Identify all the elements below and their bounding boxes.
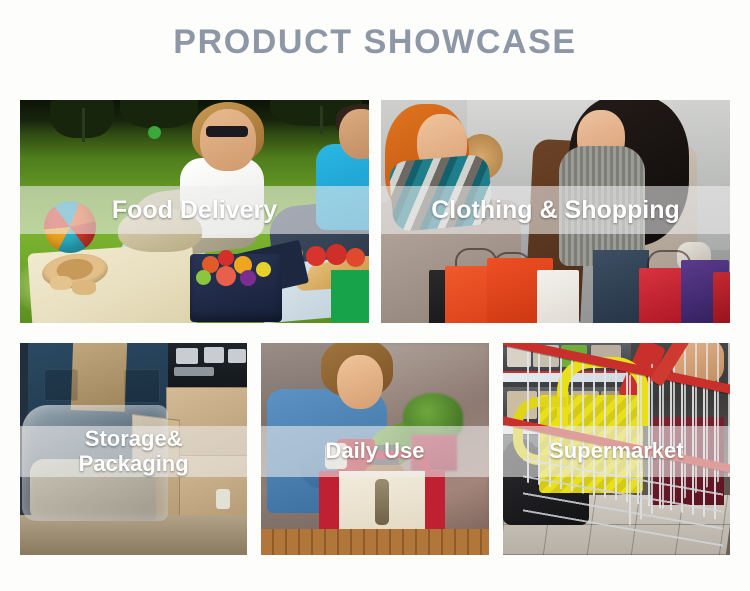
caption-line: Storage& bbox=[79, 427, 189, 452]
showcase-card-supermarket[interactable]: Supermarket bbox=[503, 343, 730, 555]
caption-line: Packaging bbox=[79, 452, 189, 477]
showcase-card-food-delivery[interactable]: Food Delivery bbox=[20, 100, 369, 323]
caption-line: Clothing & Shopping bbox=[431, 196, 680, 224]
product-showcase-page: PRODUCT SHOWCASE bbox=[0, 0, 750, 591]
card-caption-daily-use: Daily Use bbox=[261, 426, 488, 477]
page-title: PRODUCT SHOWCASE bbox=[0, 22, 750, 62]
showcase-grid-bottom-row: Storage& Packaging bbox=[20, 343, 730, 555]
card-caption-supermarket: Supermarket bbox=[503, 426, 730, 477]
showcase-grid-top-row: Food Delivery bbox=[20, 100, 730, 323]
showcase-card-storage-packaging[interactable]: Storage& Packaging bbox=[20, 343, 247, 555]
caption-line: Supermarket bbox=[549, 439, 684, 464]
caption-line: Food Delivery bbox=[112, 196, 277, 224]
card-caption-food-delivery: Food Delivery bbox=[20, 186, 369, 234]
showcase-card-clothing-shopping[interactable]: Clothing & Shopping bbox=[381, 100, 730, 323]
card-caption-storage-packaging: Storage& Packaging bbox=[20, 426, 247, 477]
caption-line: Daily Use bbox=[325, 439, 424, 464]
showcase-card-daily-use[interactable]: Daily Use bbox=[261, 343, 488, 555]
card-caption-clothing-shopping: Clothing & Shopping bbox=[381, 186, 730, 234]
